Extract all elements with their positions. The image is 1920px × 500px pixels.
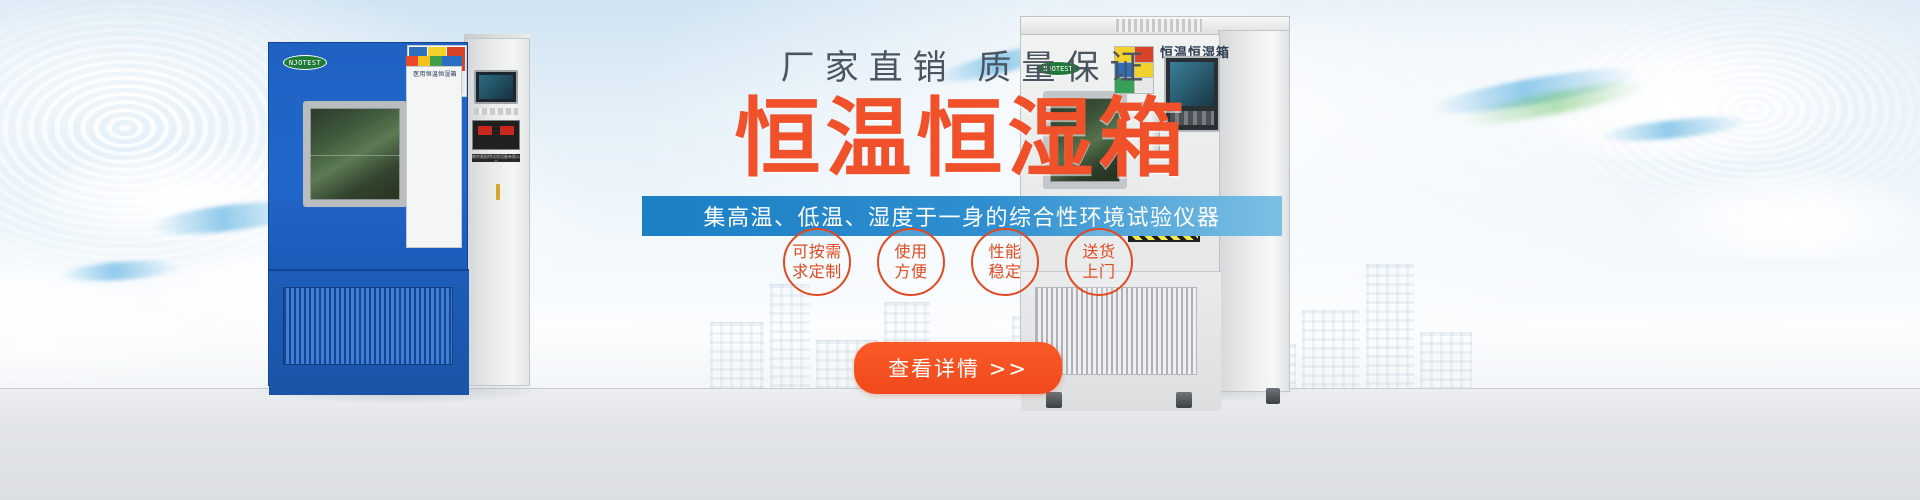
left-chamber-panel-footer: 南京奥耐特试验设备有限公司 <box>472 154 520 162</box>
left-chamber-temp-digits <box>478 126 492 135</box>
feature-badge-delivery[interactable]: 送货 上门 <box>1065 228 1133 296</box>
badge-line-2: 求定制 <box>792 262 842 282</box>
blue-ribbon-decoration <box>1429 60 1640 122</box>
cloud-decoration <box>1650 170 1920 260</box>
left-chamber-panel-title: 医用恒温恒湿箱 <box>407 69 463 78</box>
left-chamber-glass <box>310 108 400 200</box>
left-chamber-door-strip <box>496 184 500 200</box>
cta-container: 查看详情 >> <box>608 342 1308 394</box>
feature-badge-easy-use[interactable]: 使用 方便 <box>877 228 945 296</box>
banner-tagline: 厂家直销 质量保证 <box>612 40 1312 89</box>
left-chamber-viewport <box>303 101 407 207</box>
feature-badge-stable[interactable]: 性能 稳定 <box>971 228 1039 296</box>
left-chamber-digital-readout <box>472 120 520 150</box>
left-chamber-control-panel: 医用恒温恒湿箱 <box>406 66 462 248</box>
banner-copy-block: 厂家直销 质量保证 恒温恒湿箱 集高温、低温、湿度于一身的综合性环境试验仪器 <box>612 40 1312 236</box>
left-test-chamber: NJOTEST 医用恒温恒湿箱 <box>268 34 530 400</box>
badge-line-2: 方便 <box>894 262 927 282</box>
badge-line-1: 性能 <box>988 242 1021 262</box>
badge-line-2: 稳定 <box>988 262 1021 282</box>
badge-line-1: 使用 <box>894 242 927 262</box>
blue-ribbon-decoration <box>1599 112 1750 146</box>
banner-headline: 恒温恒湿箱 <box>612 95 1312 184</box>
badge-line-1: 送货 <box>1082 242 1115 262</box>
left-chamber-vent-grille <box>283 287 453 365</box>
left-chamber-humidity-digits <box>500 126 514 135</box>
feature-badge-group: 可按需 求定制 使用 方便 性能 稳定 送货 上门 <box>608 228 1308 296</box>
badge-line-1: 可按需 <box>792 242 842 262</box>
left-chamber-button-row[interactable] <box>474 108 518 115</box>
right-chamber-leg <box>1046 392 1062 408</box>
left-chamber-color-sticker <box>406 56 462 66</box>
feature-badge-custom[interactable]: 可按需 求定制 <box>783 228 851 296</box>
right-chamber-top-vent <box>1116 19 1202 32</box>
right-chamber-leg <box>1176 392 1192 408</box>
blue-ribbon-decoration <box>60 258 181 284</box>
promo-banner: NJOTEST 医用恒温恒湿箱 <box>0 0 1920 500</box>
left-chamber-screen-display[interactable] <box>479 75 513 99</box>
badge-line-2: 上门 <box>1082 262 1115 282</box>
right-swirl-texture <box>1380 0 1920 290</box>
left-chamber-glass-reflection <box>310 155 400 156</box>
floor-band <box>0 388 1920 500</box>
green-ribbon-decoration <box>1460 74 1651 132</box>
left-chamber-brand-logo: NJOTEST <box>283 55 327 70</box>
cloud-decoration <box>1500 40 1840 160</box>
view-details-button[interactable]: 查看详情 >> <box>854 342 1062 394</box>
